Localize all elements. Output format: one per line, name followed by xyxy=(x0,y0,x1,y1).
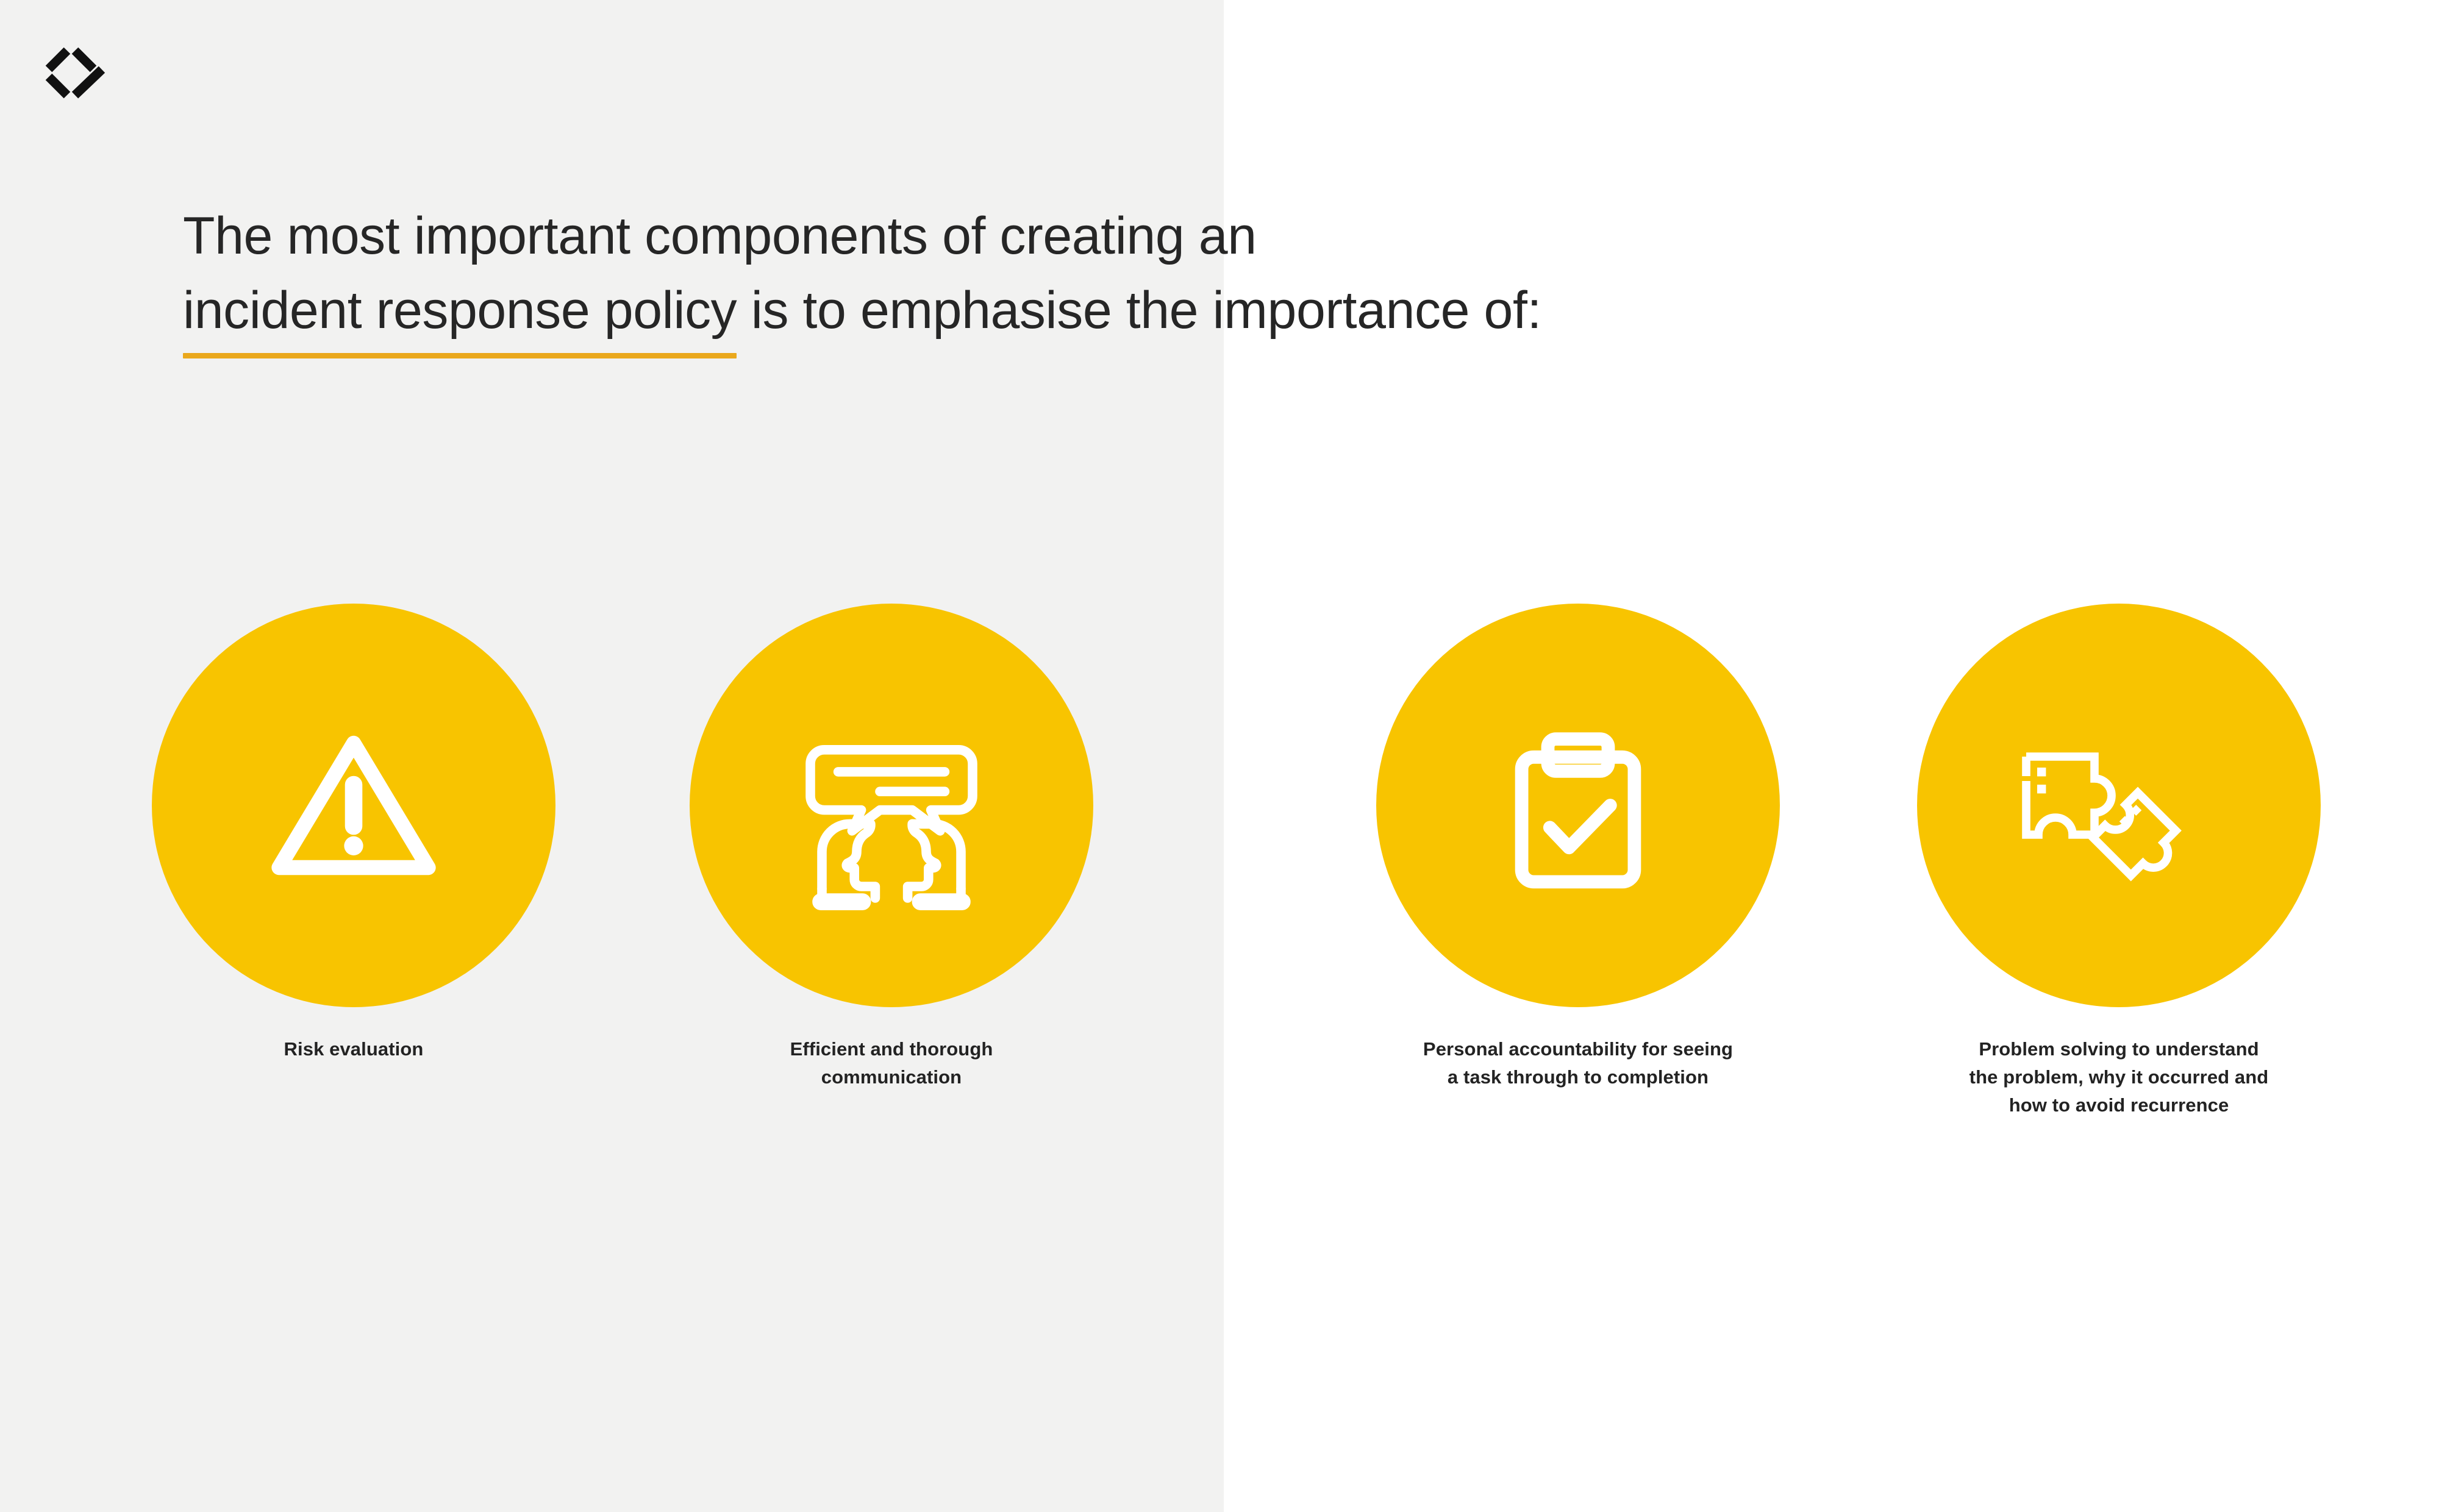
icon-card-accountability: Personal accountability for seeing a tas… xyxy=(1316,604,1840,1091)
diamond-magnifier-logo xyxy=(41,40,109,107)
page-title: The most important components of creatin… xyxy=(183,199,1646,349)
icon-card-caption: Efficient and thorough communication xyxy=(629,1035,1154,1091)
headline-highlight: incident response policy xyxy=(183,273,737,349)
slide-canvas: The most important components of creatin… xyxy=(0,0,2439,1512)
icon-card-communication: Efficient and thorough communication xyxy=(629,604,1154,1091)
icon-card-caption: Risk evaluation xyxy=(91,1035,616,1063)
icon-card-risk-evaluation: Risk evaluation xyxy=(91,604,616,1063)
icon-circle xyxy=(1376,604,1780,1007)
icon-card-problem-solving: Problem solving to understand the proble… xyxy=(1857,604,2381,1119)
headline-part-2: is to emphasise the importance of: xyxy=(737,281,1541,340)
icon-circle xyxy=(690,604,1093,1007)
headline-part-1: The most important components of creatin… xyxy=(183,207,1271,265)
icon-circle xyxy=(152,604,555,1007)
warning-triangle-icon xyxy=(250,702,457,909)
icon-card-caption: Personal accountability for seeing a tas… xyxy=(1316,1035,1840,1091)
clipboard-check-icon xyxy=(1477,705,1679,906)
puzzle-pieces-icon xyxy=(1997,683,2241,927)
speech-bubbles-two-people-icon xyxy=(776,690,1007,921)
icon-circle xyxy=(1917,604,2321,1007)
icon-card-caption: Problem solving to understand the proble… xyxy=(1857,1035,2381,1119)
